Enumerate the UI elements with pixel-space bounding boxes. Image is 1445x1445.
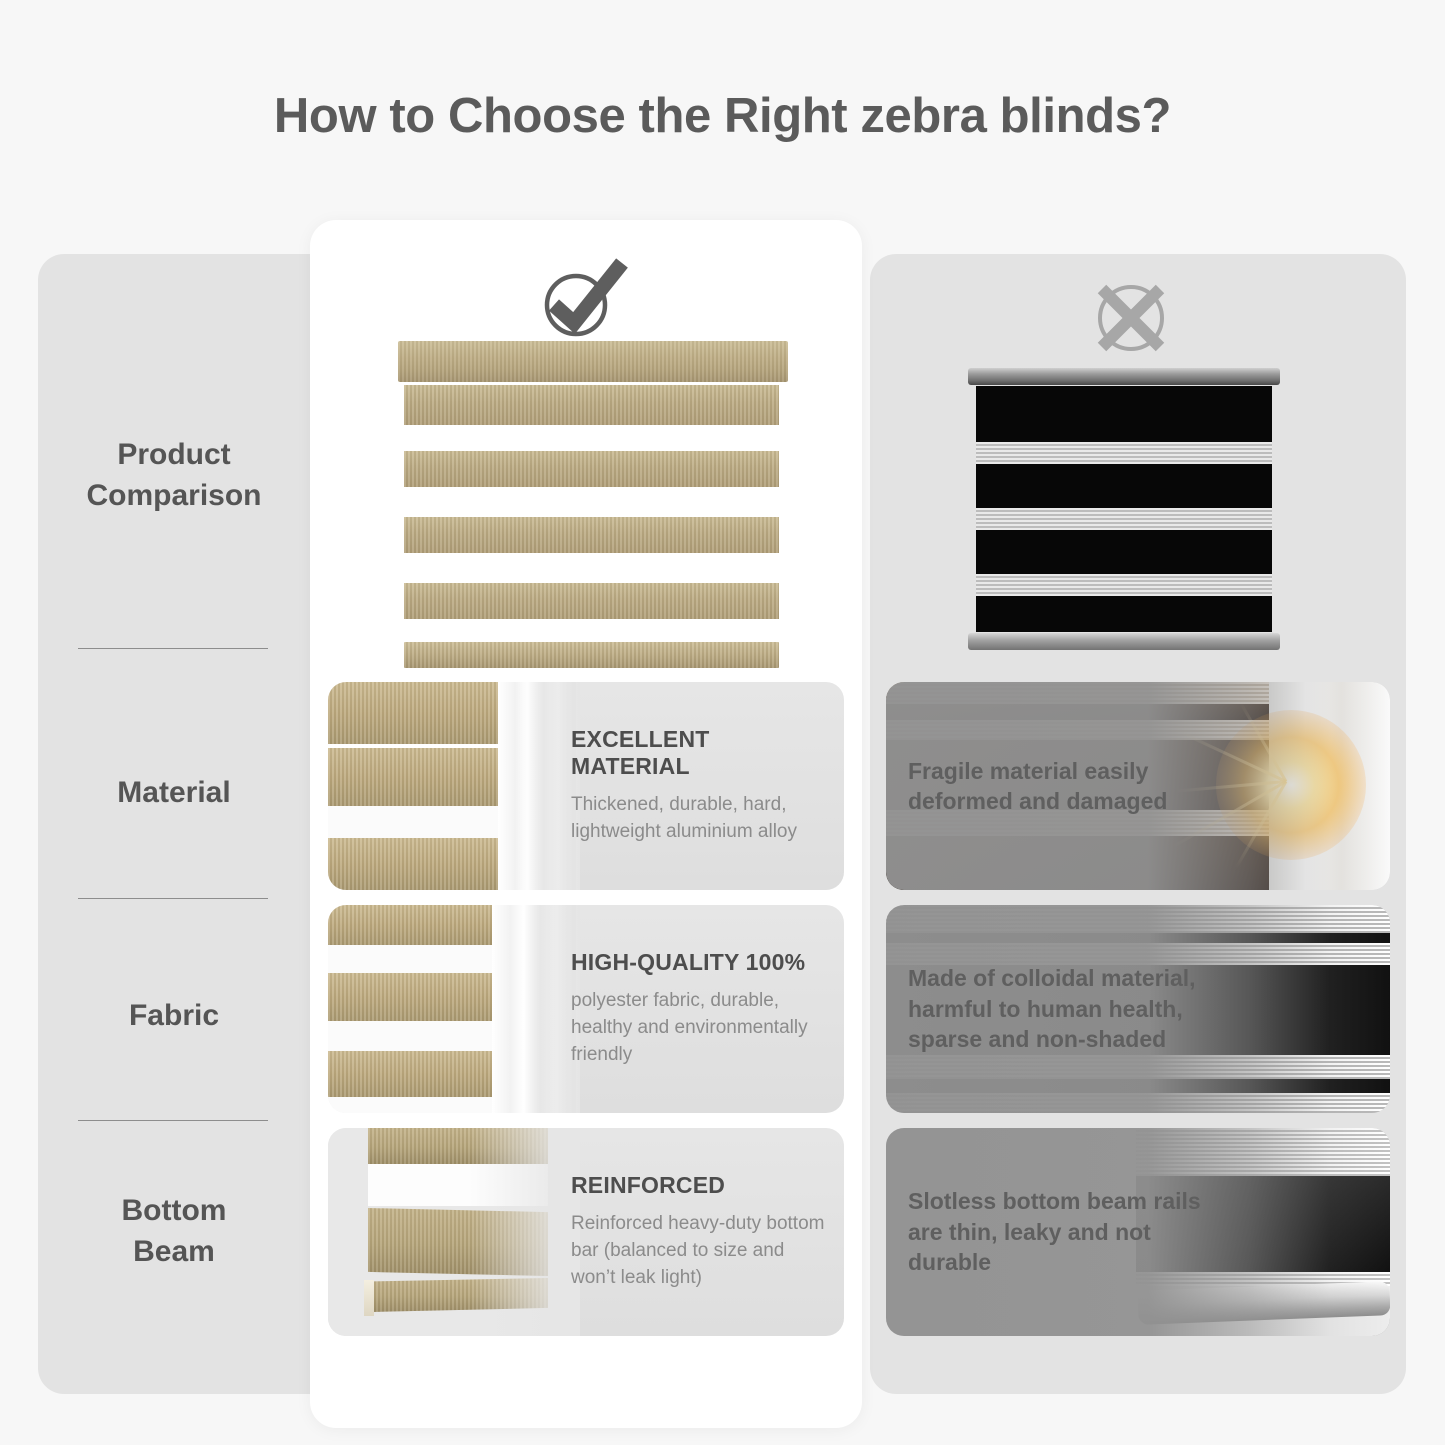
row-label-line1: Bottom [40,1190,308,1231]
feature-text-bottom-beam: REINFORCED Reinforced heavy-duty bottom … [571,1128,844,1336]
blind-headrail [398,341,788,382]
feature-text-material: EXCELLENT MATERIAL Thickened, durable, h… [571,682,844,890]
feature-text-fabric: HIGH-QUALITY 100% polyester fabric, dura… [571,905,844,1113]
row-divider-3 [78,1120,268,1121]
blind-band-dark [976,530,1272,574]
infographic-root: How to Choose the Right zebra blinds? Pr… [0,0,1445,1445]
blind-band-dark [976,596,1272,632]
feature-card-material: EXCELLENT MATERIAL Thickened, durable, h… [328,682,844,890]
feature-body: polyester fabric, durable, healthy and e… [571,988,826,1069]
hero-black-zebra-blind [968,368,1280,650]
feature-photo-bottom-beam [328,1128,580,1336]
row-label-line2: Comparison [40,475,308,516]
feature-heading: EXCELLENT MATERIAL [571,726,826,780]
bad-card-bottom-beam: Slotless bottom beam rails are thin, lea… [886,1128,1390,1336]
blind-bottom-bar [968,633,1280,650]
feature-card-fabric: HIGH-QUALITY 100% polyester fabric, dura… [328,905,844,1113]
check-circle-icon [538,255,630,341]
row-label-line1: Product [40,434,308,475]
blind-band [404,517,779,553]
bad-text-fabric: Made of colloidal material, harmful to h… [908,905,1238,1113]
blind-band [404,583,779,619]
hero-beige-zebra-blind [394,341,788,668]
row-label-material: Material [40,772,308,813]
feature-photo-material [328,682,580,890]
blind-band [404,385,779,425]
blind-band-sheer [976,508,1272,530]
bad-text-bottom-beam: Slotless bottom beam rails are thin, lea… [908,1128,1238,1336]
feature-card-bottom-beam: REINFORCED Reinforced heavy-duty bottom … [328,1128,844,1336]
row-label-line2: Beam [40,1231,308,1272]
feature-body: Reinforced heavy-duty bottom bar (balanc… [571,1211,826,1292]
cross-circle-icon [1090,277,1172,359]
row-label-line1: Fabric [40,995,308,1036]
feature-photo-fabric [328,905,580,1113]
row-divider-2 [78,898,268,899]
row-label-product-comparison: Product Comparison [40,434,308,517]
row-label-fabric: Fabric [40,995,308,1036]
page-title: How to Choose the Right zebra blinds? [0,88,1445,144]
row-label-line1: Material [40,772,308,813]
row-divider-1 [78,648,268,649]
bad-card-material: Fragile material easily deformed and dam… [886,682,1390,890]
blind-band-sheer [976,442,1272,464]
blind-headrail [968,368,1280,385]
blind-band-dark [976,386,1272,442]
feature-heading: HIGH-QUALITY 100% [571,949,826,976]
blind-band-sheer [976,574,1272,596]
feature-heading: REINFORCED [571,1172,826,1199]
blind-fabric [976,386,1272,632]
bad-card-fabric: Made of colloidal material, harmful to h… [886,905,1390,1113]
blind-band [404,451,779,487]
blind-bottom-bar [404,642,779,668]
blind-band-dark [976,464,1272,508]
feature-body: Thickened, durable, hard, lightweight al… [571,792,826,846]
row-label-bottom-beam: Bottom Beam [40,1190,308,1273]
bad-text-material: Fragile material easily deformed and dam… [908,682,1238,890]
